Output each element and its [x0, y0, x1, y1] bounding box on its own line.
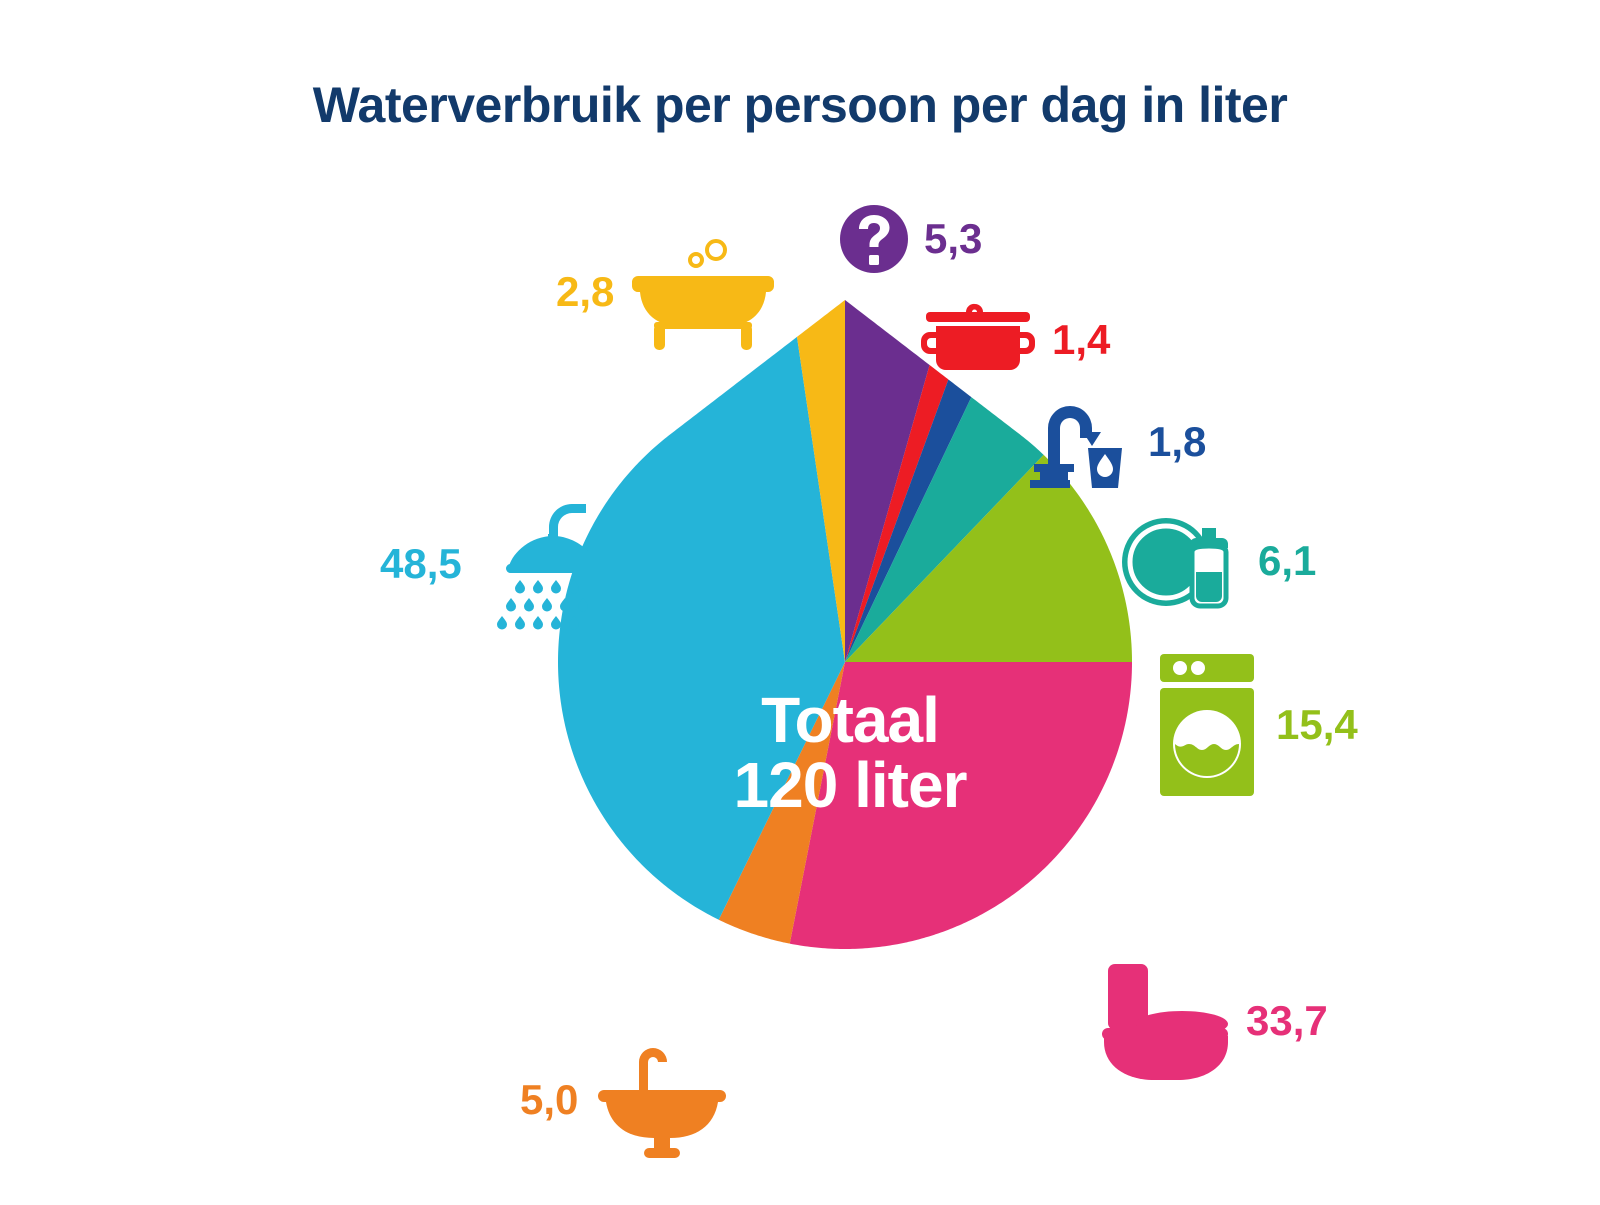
callout-kraanwater: 1,8	[1026, 392, 1206, 492]
cooking-pot-icon	[918, 300, 1038, 380]
callout-afwassen: 6,1	[1116, 512, 1316, 610]
callout-overig: 5,3	[838, 203, 982, 275]
bathtub-icon	[628, 232, 778, 352]
callout-toilet: 33,7	[1096, 958, 1328, 1084]
callout-overig-value: 5,3	[924, 218, 982, 260]
pie-slice-toilet	[790, 662, 1132, 949]
callout-douche-value: 48,5	[380, 543, 462, 585]
callout-bathtub-value: 2,8	[556, 271, 614, 313]
washing-machine-icon	[1152, 652, 1262, 798]
water-drop-pie-chart	[0, 0, 1600, 1205]
callout-afwassen-value: 6,1	[1258, 540, 1316, 582]
tap-glass-icon	[1026, 392, 1134, 492]
chart-svg	[0, 0, 1600, 1205]
dishwashing-icon	[1116, 512, 1244, 610]
toilet-icon	[1096, 958, 1232, 1084]
infographic-page: Waterverbruik per persoon per dag in lit…	[0, 0, 1600, 1205]
callout-koken-value: 1,4	[1052, 319, 1110, 361]
sink-icon	[592, 1040, 732, 1160]
callout-wasmachine-value: 15,4	[1276, 704, 1358, 746]
callout-douche: 48,5	[380, 498, 588, 630]
callout-bathtub: 2,8	[556, 232, 778, 352]
callout-wasmachine: 15,4	[1152, 652, 1358, 798]
question-mark-icon	[838, 203, 910, 275]
callout-toilet-value: 33,7	[1246, 1000, 1328, 1042]
callout-wastafel: 5,0	[520, 1040, 732, 1160]
callout-koken: 1,4	[918, 300, 1110, 380]
callout-kraanwater-value: 1,8	[1148, 421, 1206, 463]
shower-icon	[476, 498, 588, 630]
callout-wastafel-value: 5,0	[520, 1079, 578, 1121]
